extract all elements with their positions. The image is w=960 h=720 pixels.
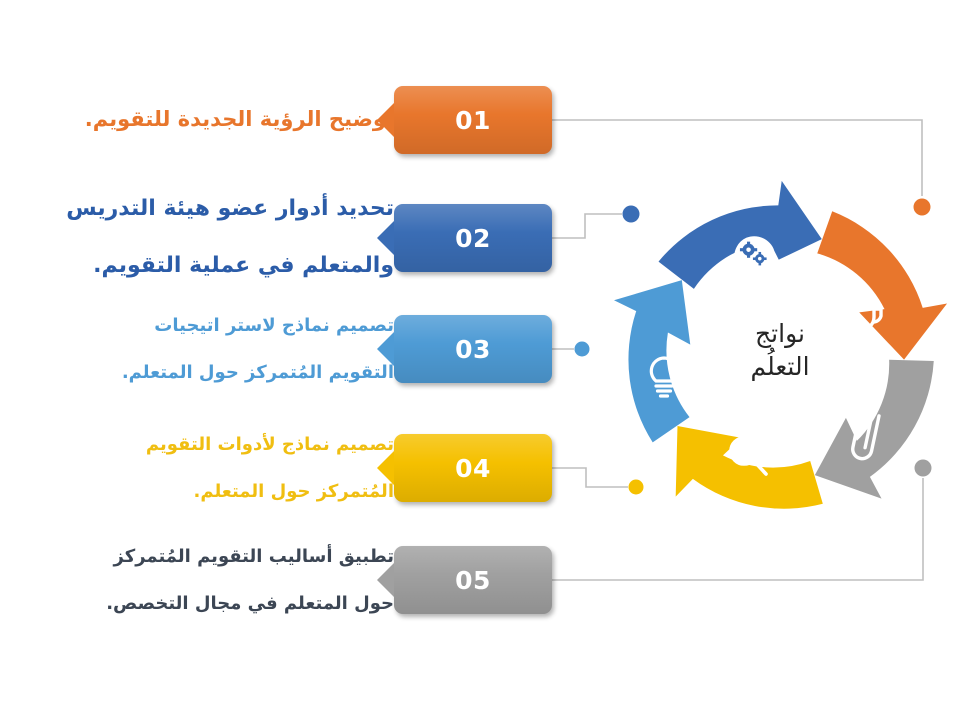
step-number-04: 04 [455, 454, 491, 483]
cycle-segment-orange [810, 210, 953, 362]
step-label-02-line-1: تحديد أدوار عضو هيئة التدريس [66, 195, 394, 224]
infographic-slide: نواتج التعلُم توضيح الرؤية الجديدة للتقو… [0, 0, 960, 720]
step-label-03-line-1: تصميم نماذج لاستر اتيجيات [122, 314, 394, 337]
learning-outcomes-cycle: نواتج التعلُم [600, 160, 960, 540]
step-row-03: تصميم نماذج لاستر اتيجيات التقويم المُتم… [0, 315, 552, 383]
trophy-icon [841, 306, 881, 341]
step-number-02: 02 [455, 224, 491, 253]
step-label-04: تصميم نماذج لأدوات التقويم المُتمركز حول… [132, 410, 394, 527]
step-number-03: 03 [455, 335, 491, 364]
step-box-04[interactable]: 04 [394, 434, 552, 502]
step-row-01: توضيح الرؤية الجديدة للتقويم. 01 [0, 86, 552, 154]
step-label-04-line-1: تصميم نماذج لأدوات التقويم [146, 433, 394, 456]
step-row-05: تطبيق أساليب التقويم المُتمركز حول المتع… [0, 546, 552, 614]
cycle-segment-light-blue [600, 255, 754, 450]
step-number-05: 05 [455, 566, 491, 595]
step-label-02-line-2: والمتعلم في عملية التقويم. [66, 252, 394, 281]
step-label-05: تطبيق أساليب التقويم المُتمركز حول المتع… [92, 522, 394, 639]
step-box-05[interactable]: 05 [394, 546, 552, 614]
step-box-01[interactable]: 01 [394, 86, 552, 154]
step-label-03-line-2: التقويم المُتمركز حول المتعلم. [122, 361, 394, 384]
step-label-05-line-2: حول المتعلم في مجال التخصص. [106, 592, 394, 615]
step-number-01: 01 [455, 106, 491, 135]
step-label-02: تحديد أدوار عضو هيئة التدريس والمتعلم في… [52, 167, 394, 310]
step-row-02: تحديد أدوار عضو هيئة التدريس والمتعلم في… [0, 204, 552, 272]
step-box-03[interactable]: 03 [394, 315, 552, 383]
step-box-02[interactable]: 02 [394, 204, 552, 272]
step-label-03: تصميم نماذج لاستر اتيجيات التقويم المُتم… [108, 291, 394, 408]
dot-light-blue [575, 342, 590, 357]
step-row-04: تصميم نماذج لأدوات التقويم المُتمركز حول… [0, 434, 552, 502]
step-label-01: توضيح الرؤية الجديدة للتقويم. [71, 106, 394, 133]
step-label-04-line-2: المُتمركز حول المتعلم. [146, 480, 394, 503]
step-label-05-line-1: تطبيق أساليب التقويم المُتمركز [106, 545, 394, 568]
